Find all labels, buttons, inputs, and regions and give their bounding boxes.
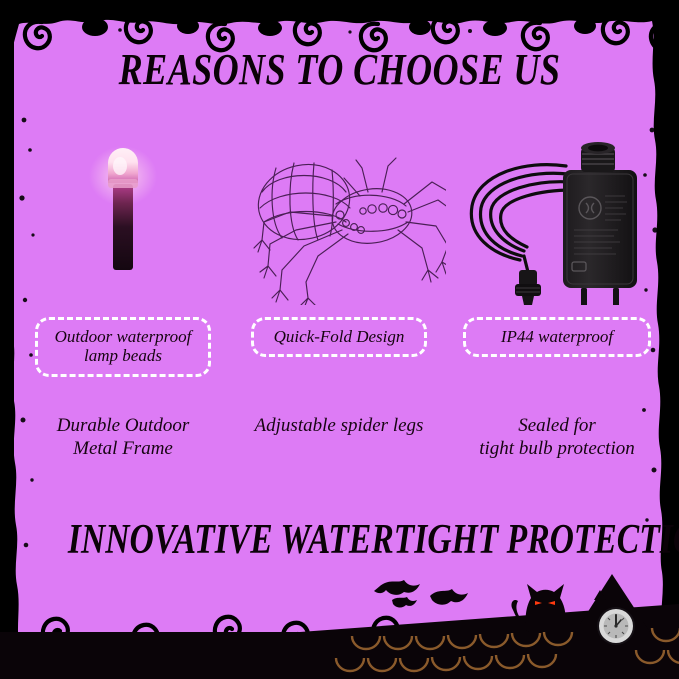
page-title: REASONS TO CHOOSE US xyxy=(61,44,618,95)
bat-icon xyxy=(374,580,420,608)
halloween-scene xyxy=(0,560,679,679)
lamp-bead-art xyxy=(16,130,230,305)
feature-column-2: Quick-Fold Design Adjustable spider legs xyxy=(232,130,446,475)
feature-column-3: IP44 waterproof Sealed for tight bulb pr… xyxy=(450,130,664,475)
adapter-art xyxy=(450,130,664,305)
wire-spider-icon xyxy=(232,130,446,305)
power-adapter-icon xyxy=(450,130,664,305)
bat-icon xyxy=(430,589,468,605)
badge-quick-fold-design: Quick-Fold Design xyxy=(251,317,427,357)
spider-art xyxy=(232,130,446,305)
caption-durable-outdoor-metal-frame: Durable Outdoor Metal Frame xyxy=(16,414,230,460)
lamp-bead-icon xyxy=(16,130,230,305)
caption-adjustable-spider-legs: Adjustable spider legs xyxy=(232,414,446,437)
bottom-headline: INNOVATIVE WATERTIGHT PROTECTION xyxy=(68,516,611,564)
clock-icon xyxy=(597,607,635,645)
badge-ip44-waterproof: IP44 waterproof xyxy=(463,317,651,357)
badge-outdoor-waterproof-lamp-beads: Outdoor waterproof lamp beads xyxy=(35,317,211,377)
poster-root: REASONS TO CHOOSE US xyxy=(0,0,679,679)
caption-sealed-for-tight-bulb-protection: Sealed for tight bulb protection xyxy=(444,414,670,460)
feature-column-1: Outdoor waterproof lamp beads Durable Ou… xyxy=(16,130,230,475)
